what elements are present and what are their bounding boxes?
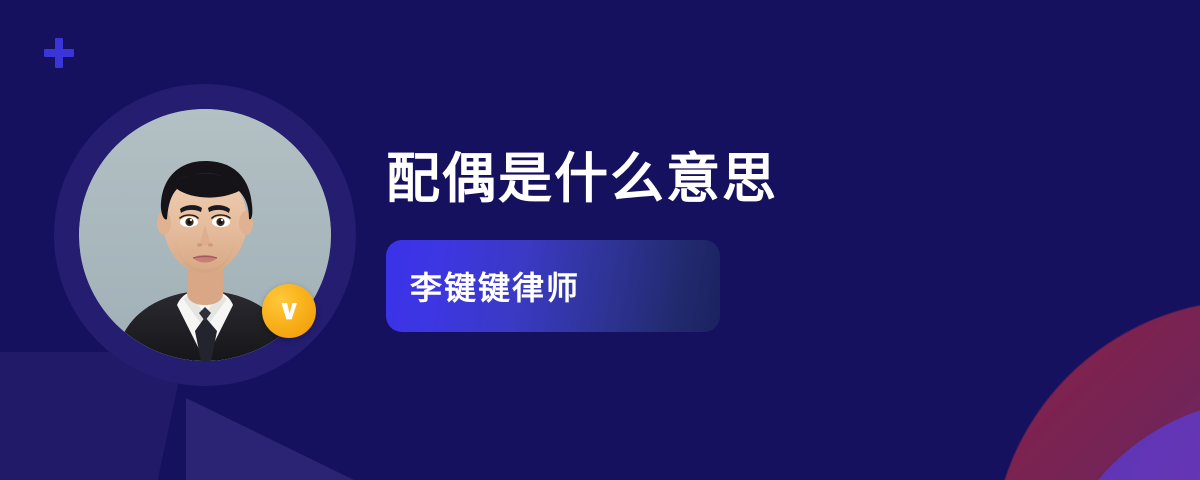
page-title: 配偶是什么意思 xyxy=(386,150,1146,208)
hero-text-block: 配偶是什么意思 李键键律师 xyxy=(386,150,1146,332)
article-hero-banner: 配偶是什么意思 李键键律师 xyxy=(0,0,1200,480)
author-name: 李键键律师 xyxy=(410,263,580,309)
decorative-triangle-shape xyxy=(186,398,354,480)
plus-icon xyxy=(44,38,74,68)
verified-check-icon xyxy=(262,284,316,338)
author-badge[interactable]: 李键键律师 xyxy=(386,240,720,332)
avatar[interactable] xyxy=(54,84,356,386)
